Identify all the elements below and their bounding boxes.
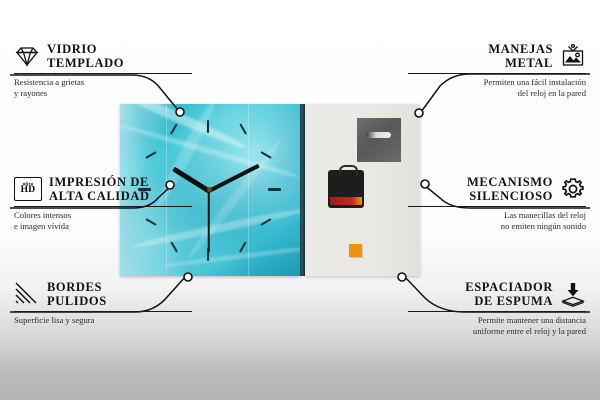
divider: [408, 206, 586, 207]
feature-high-quality-print: ultra HD IMPRESIÓN DE ALTA CALIDAD Color…: [14, 175, 192, 231]
foam-spacer-icon: [560, 281, 586, 307]
feature-title-line1: VIDRIO: [47, 42, 124, 56]
polished-edges-icon: [14, 281, 40, 307]
foam-spacer: [349, 244, 362, 257]
hanger-slot: [366, 132, 391, 138]
gear-icon: [560, 176, 586, 202]
feature-tempered-glass: VIDRIO TEMPLADO Resistencia a grietas y …: [14, 42, 192, 98]
feature-sub-line1: Superficie lisa y segura: [14, 315, 192, 326]
clock-hand-second: [208, 191, 210, 253]
feature-sub-line2: no emiten ningún sonido: [408, 221, 586, 232]
divider: [408, 311, 586, 312]
diamond-icon: [14, 43, 40, 69]
feature-silent-mechanism: MECANISMO SILENCIOSO Las manecillas del …: [408, 175, 586, 231]
feature-sub-line2: del reloj en la pared: [408, 88, 586, 99]
feature-sub-line1: Colores intensos: [14, 210, 192, 221]
feature-sub-line1: Las manecillas del reloj: [408, 210, 586, 221]
feature-sub-line1: Permite mantener una distancia: [408, 315, 586, 326]
clock-hand-minute: [208, 164, 260, 193]
hanging-frame-icon: [560, 43, 586, 69]
divider: [408, 73, 586, 74]
ultra-hd-main-text: HD: [21, 186, 36, 196]
feature-polished-edges: BORDES PULIDOS Superficie lisa y segura: [14, 280, 192, 326]
mechanism-loop: [339, 165, 358, 176]
divider: [14, 311, 192, 312]
feature-sub-line2: y rayones: [14, 88, 192, 99]
feature-sub-line2: e imagen vívida: [14, 221, 192, 232]
feature-sub-line1: Permiten una fácil instalación: [408, 77, 586, 88]
feature-title-line2: ALTA CALIDAD: [49, 189, 150, 203]
feature-title-line1: ESPACIADOR: [465, 280, 553, 294]
feature-title-line2: DE ESPUMA: [465, 294, 553, 308]
feature-title-line2: SILENCIOSO: [467, 189, 553, 203]
feature-title-line2: TEMPLADO: [47, 56, 124, 70]
clock-back-panel: [305, 104, 420, 276]
battery: [330, 197, 362, 205]
feature-title-line1: MANEJAS: [488, 42, 553, 56]
ultra-hd-icon: ultra HD: [14, 177, 42, 201]
divider: [14, 206, 192, 207]
feature-title-line1: IMPRESIÓN DE: [49, 175, 150, 189]
divider: [14, 73, 192, 74]
feature-title-line2: PULIDOS: [47, 294, 107, 308]
feature-sub-line1: Resistencia a grietas: [14, 77, 192, 88]
clock-center-hub: [207, 187, 212, 192]
metal-hanger: [357, 118, 401, 162]
feature-metal-handles: MANEJAS METAL Permiten una fácil instala…: [408, 42, 586, 98]
clock-mechanism: [328, 170, 364, 208]
feature-sub-line2: uniforme entre el reloj y la pared: [408, 326, 586, 337]
feature-title-line2: METAL: [488, 56, 553, 70]
feature-foam-spacer: ESPACIADOR DE ESPUMA Permite mantener un…: [408, 280, 586, 336]
feature-title-line1: MECANISMO: [467, 175, 553, 189]
feature-title-line1: BORDES: [47, 280, 107, 294]
infographic-canvas: VIDRIO TEMPLADO Resistencia a grietas y …: [0, 0, 600, 400]
